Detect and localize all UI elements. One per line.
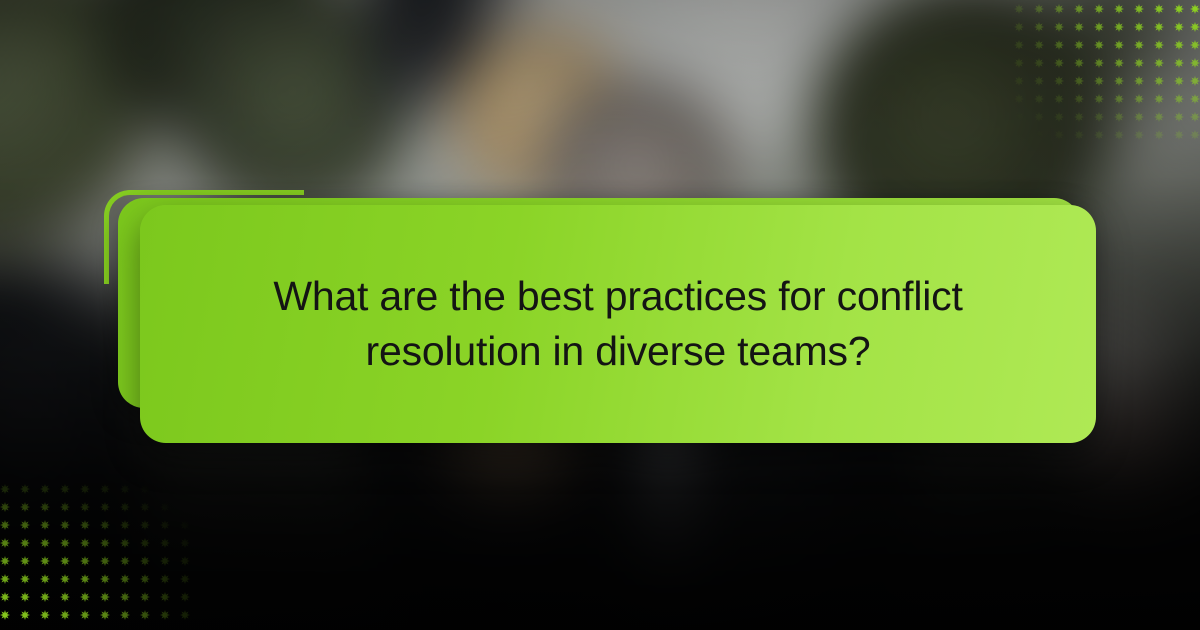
quote-card: What are the best practices for conflict… bbox=[140, 205, 1096, 443]
share-card-canvas: What are the best practices for conflict… bbox=[0, 0, 1200, 630]
quote-title: What are the best practices for conflict… bbox=[238, 269, 998, 378]
